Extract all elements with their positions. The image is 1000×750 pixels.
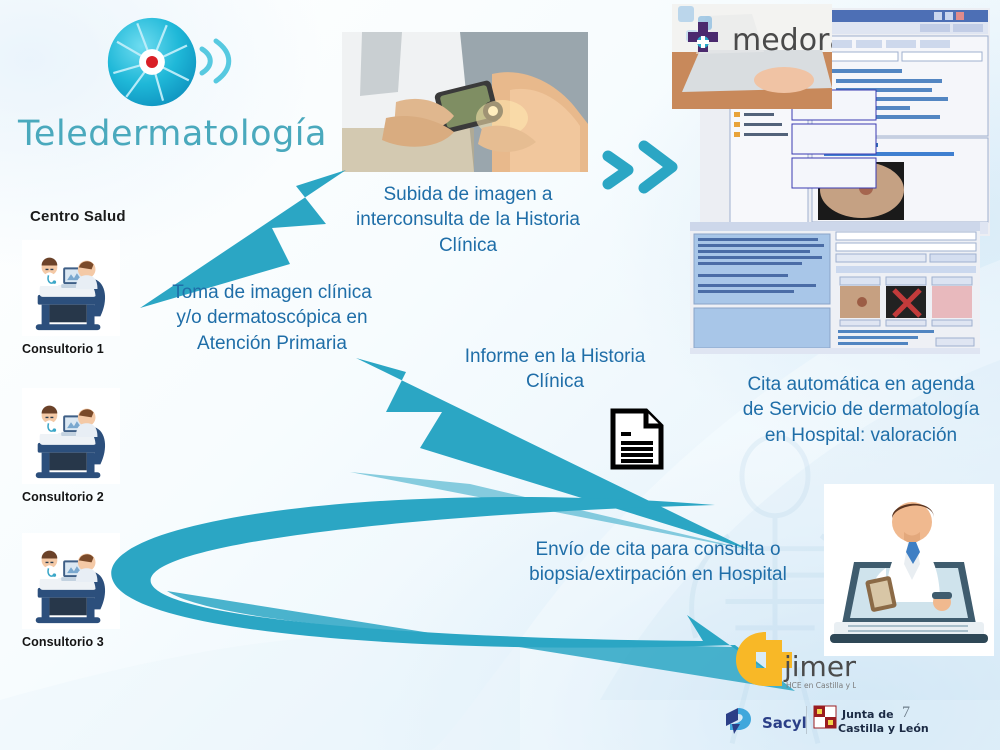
- jimena-wordmark: jimena: [783, 650, 856, 683]
- list-item-consultorio-2[interactable]: Consultorio 2: [22, 388, 120, 504]
- signal-waves-icon: [194, 32, 238, 90]
- step-upload-text: Subida de imagen a interconsulta de la H…: [352, 182, 584, 258]
- dermatoscope-photo: [342, 32, 588, 172]
- junta-castilla-leon-logo: Junta de Castilla y León: [812, 704, 932, 740]
- medora-logo-photo: medora: [672, 4, 832, 109]
- brand-logo: Teledermatología: [18, 14, 318, 169]
- step-appointment-text: Cita automática en agenda de Servicio de…: [740, 372, 982, 448]
- medora-wordmark: medora: [732, 23, 832, 58]
- jimena-tagline: HCE en Castilla y León: [786, 681, 856, 690]
- consultation-room-illustration: [22, 533, 120, 629]
- footer-divider: [806, 706, 807, 734]
- logo-title: Teledermatología: [18, 114, 318, 154]
- camera-aperture-icon: [106, 16, 198, 108]
- centro-salud-heading: Centro Salud: [30, 208, 126, 225]
- step-report-text: Informe en la Historia Clínica: [440, 344, 670, 395]
- consultation-room-illustration: [22, 240, 120, 336]
- app-screenshot-interconsulta-images: [690, 222, 980, 354]
- consultorio-label: Consultorio 1: [22, 342, 120, 356]
- jimena-logo: jimena HCE en Castilla y León: [736, 630, 856, 702]
- document-icon: [610, 408, 664, 470]
- list-item-consultorio-1[interactable]: Consultorio 1: [22, 240, 120, 356]
- list-item-consultorio-3[interactable]: Consultorio 3: [22, 533, 120, 649]
- double-chevron-right-icon: [598, 136, 690, 198]
- arrow-send-appointment-curve: [95, 495, 815, 710]
- sacyl-logo: Sacyl: [724, 706, 814, 736]
- consultation-room-illustration: [22, 388, 120, 484]
- step-send-text: Envío de cita para consulta o biopsia/ex…: [508, 537, 808, 588]
- consultorio-label: Consultorio 3: [22, 635, 120, 649]
- junta-line-2: Castilla y León: [838, 722, 929, 735]
- junta-line-1: Junta de: [841, 708, 894, 721]
- slide-canvas: Teledermatología Centro Salud: [0, 0, 1000, 750]
- step-capture-text: Toma de imagen clínica y/o dermatoscópic…: [158, 280, 386, 356]
- sacyl-wordmark: Sacyl: [762, 714, 807, 732]
- consultorio-label: Consultorio 2: [22, 490, 120, 504]
